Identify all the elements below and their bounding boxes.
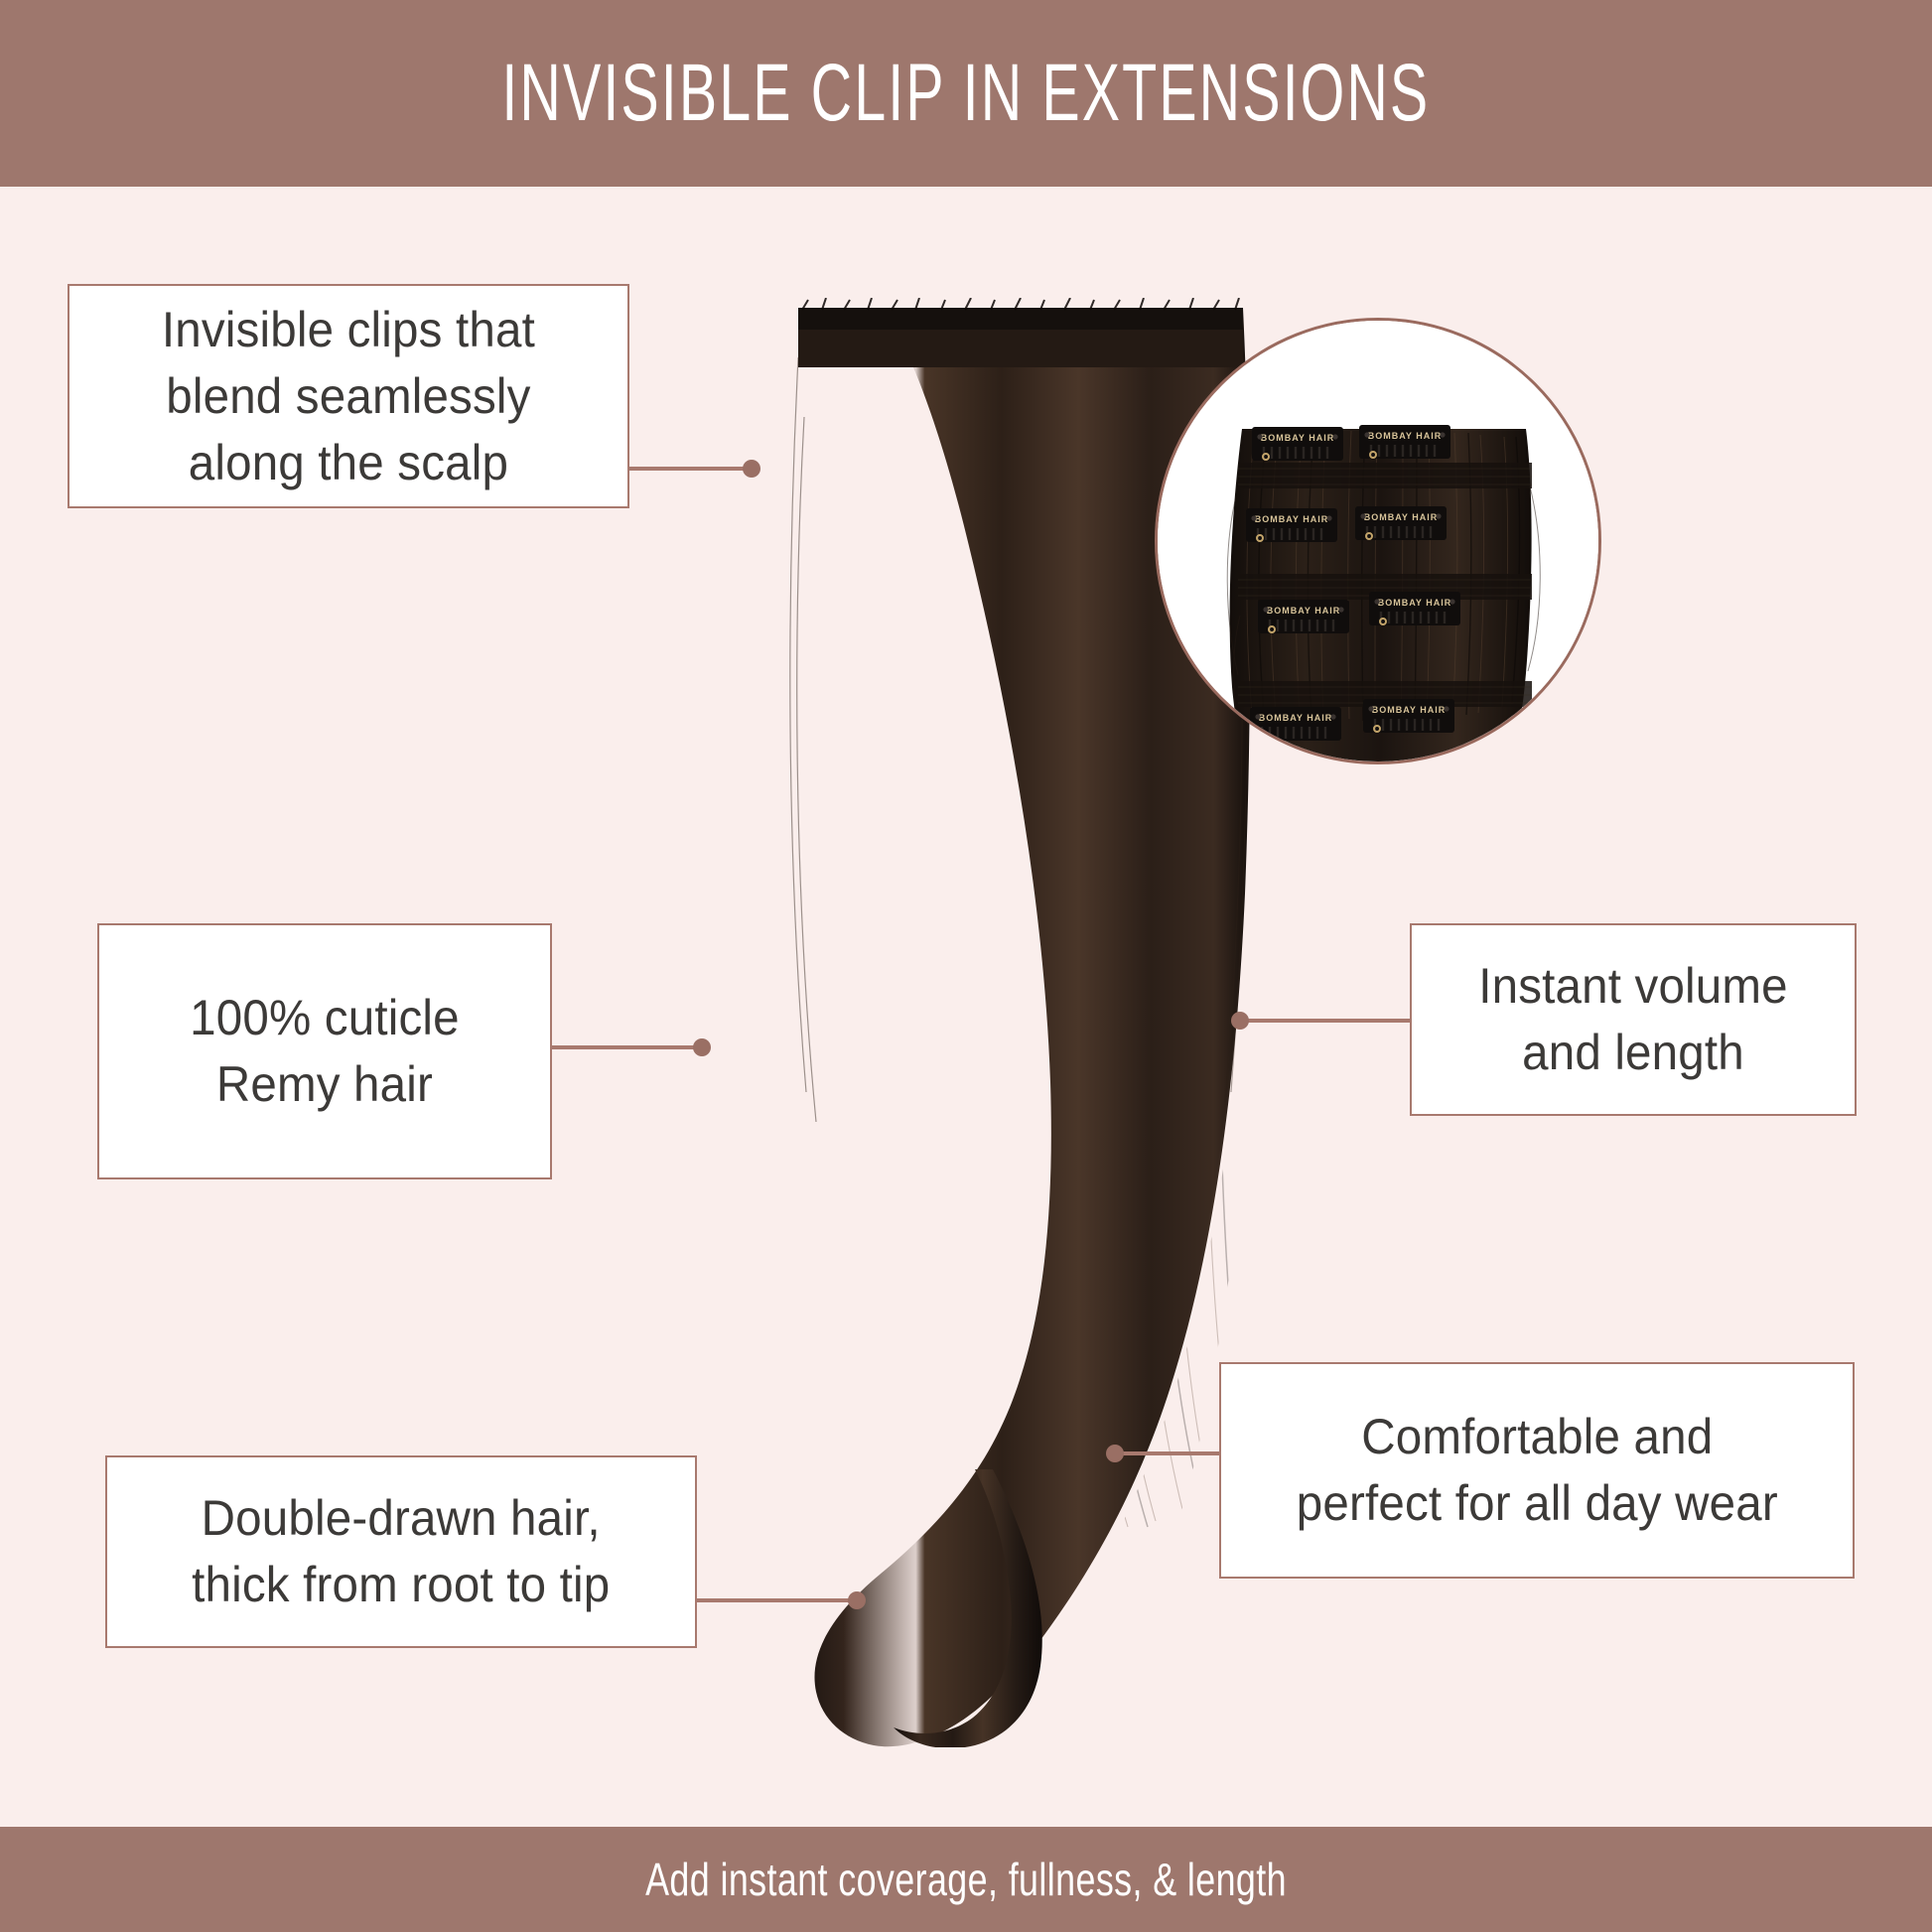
callout-double-drawn-text: Double-drawn hair, thick from root to ti… [181,1485,621,1618]
callout-invisible-clips: Invisible clips that blend seamlessly al… [68,284,629,508]
header-bar: INVISIBLE CLIP IN EXTENSIONS [0,0,1932,187]
callout-invisible-clips-text: Invisible clips that blend seamlessly al… [152,297,545,496]
callout-instant-volume: Instant volume and length [1410,923,1857,1116]
callout-instant-volume-text: Instant volume and length [1470,953,1796,1086]
connector-line-double-drawn [697,1598,856,1602]
connector-line-instant-volume [1239,1019,1412,1023]
callout-comfortable: Comfortable and perfect for all day wear [1219,1362,1855,1579]
connector-line-invisible-clips [629,467,751,471]
footer-bar: Add instant coverage, fullness, & length [0,1827,1932,1932]
footer-tagline: Add instant coverage, fullness, & length [645,1857,1287,1902]
svg-text:BOMBAY HAIR: BOMBAY HAIR [1368,431,1443,441]
svg-text:BOMBAY HAIR: BOMBAY HAIR [1261,433,1335,443]
connector-dot-remy-hair [693,1038,711,1056]
connector-dot-instant-volume [1231,1012,1249,1030]
callout-remy-hair: 100% cuticle Remy hair [97,923,552,1179]
svg-text:BOMBAY HAIR: BOMBAY HAIR [1255,514,1329,524]
connector-line-comfortable [1114,1451,1221,1455]
connector-line-remy-hair [552,1045,701,1049]
svg-text:BOMBAY HAIR: BOMBAY HAIR [1259,713,1333,723]
svg-text:BOMBAY HAIR: BOMBAY HAIR [1364,512,1439,522]
connector-dot-double-drawn [848,1591,866,1609]
clip-closeup-circle: BOMBAY HAIR BOMBAY HAIR [1155,318,1601,764]
connector-dot-comfortable [1106,1445,1124,1462]
connector-dot-invisible-clips [743,460,760,478]
callout-comfortable-text: Comfortable and perfect for all day wear [1284,1404,1791,1537]
svg-text:BOMBAY HAIR: BOMBAY HAIR [1267,606,1341,616]
svg-text:BOMBAY HAIR: BOMBAY HAIR [1372,705,1447,715]
callout-double-drawn: Double-drawn hair, thick from root to ti… [105,1455,697,1648]
callout-remy-hair-text: 100% cuticle Remy hair [183,985,467,1118]
svg-text:BOMBAY HAIR: BOMBAY HAIR [1378,598,1452,608]
page-title: INVISIBLE CLIP IN EXTENSIONS [502,53,1431,134]
